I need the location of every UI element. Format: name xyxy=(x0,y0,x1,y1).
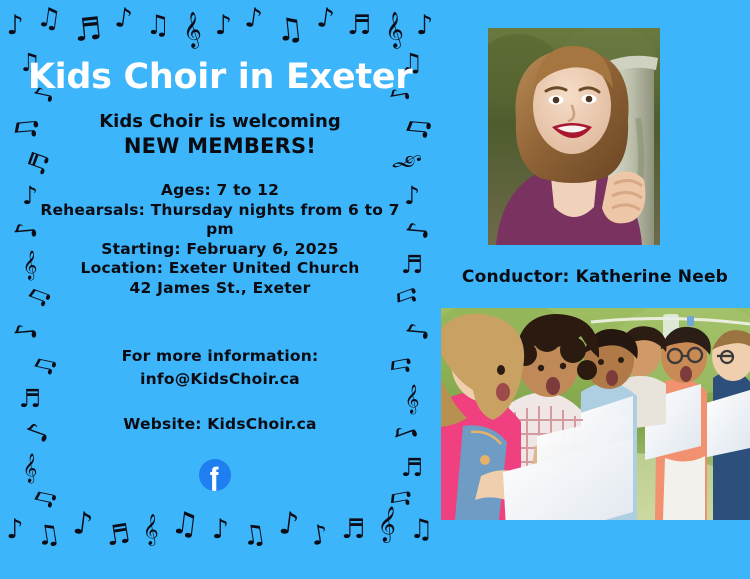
text-column: Kids Choir in Exeter Kids Choir is welco… xyxy=(0,0,440,579)
facebook-icon[interactable] xyxy=(199,459,231,491)
detail-location: Location: Exeter United Church xyxy=(28,259,412,279)
contact-email[interactable]: info@KidsChoir.ca xyxy=(28,368,412,391)
welcome-line: Kids Choir is welcoming xyxy=(0,111,440,132)
detail-ages: Ages: 7 to 12 xyxy=(28,181,412,201)
detail-rehearsals: Rehearsals: Thursday nights from 6 to 7 … xyxy=(28,201,412,240)
details-block: Ages: 7 to 12 Rehearsals: Thursday night… xyxy=(28,181,412,298)
choir-poster: ♪♫♬♪♫𝄞♪♪♫♪♬𝄞♪ ♪♫♪♬𝄞♫♪♫♪♪♬𝄞♫ ♫♪♫♬♪♪𝄞♫♪♫♬♪… xyxy=(0,0,750,579)
conductor-photo xyxy=(488,28,660,245)
contact-block: For more information: info@KidsChoir.ca xyxy=(28,345,412,391)
contact-label: For more information: xyxy=(28,345,412,368)
website-line[interactable]: Website: KidsChoir.ca xyxy=(28,415,412,433)
page-title: Kids Choir in Exeter xyxy=(0,57,440,97)
new-members-headline: NEW MEMBERS! xyxy=(0,134,440,158)
detail-starting: Starting: February 6, 2025 xyxy=(28,240,412,260)
kids-choir-photo xyxy=(441,308,750,520)
conductor-caption: Conductor: Katherine Neeb xyxy=(440,267,750,287)
detail-address: 42 James St., Exeter xyxy=(28,279,412,299)
